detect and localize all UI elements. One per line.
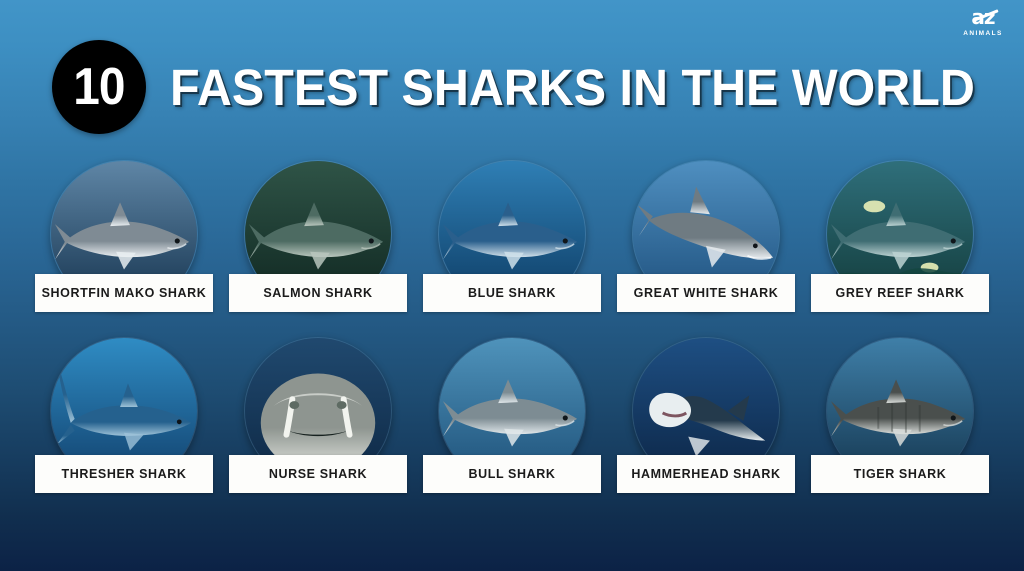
header-title-row: 10 FASTEST SHARKS IN THE WORLD [52,40,984,134]
shark-name-label: TIGER SHARK [811,455,989,493]
shark-card[interactable]: SALMON SHARK [228,160,408,312]
shark-name-label: GREY REEF SHARK [811,274,989,312]
az-logo-subtitle: ANIMALS [960,30,1006,37]
shark-grid: SHORTFIN MAKO SHARK SALMON SHARK [0,160,1024,518]
shark-name-text: GREAT WHITE SHARK [634,286,779,300]
shark-name-text: NURSE SHARK [269,467,367,481]
shark-card[interactable]: NURSE SHARK [228,337,408,493]
shark-name-text: TIGER SHARK [854,467,947,481]
shark-name-text: SHORTFIN MAKO SHARK [42,286,207,300]
az-logo-mark: az [971,8,994,26]
shark-card[interactable]: BULL SHARK [422,337,602,493]
shark-name-label: BULL SHARK [423,455,601,493]
shark-card[interactable]: GREAT WHITE SHARK [616,160,796,312]
shark-name-text: GREY REEF SHARK [836,286,965,300]
shark-card[interactable]: TIGER SHARK [810,337,990,493]
shark-name-label: SALMON SHARK [229,274,407,312]
shark-card[interactable]: GREY REEF SHARK [810,160,990,312]
shark-card[interactable]: THRESHER SHARK [34,337,214,493]
shark-name-label: BLUE SHARK [423,274,601,312]
az-animals-logo: az ANIMALS [960,8,1006,37]
shark-name-label: HAMMERHEAD SHARK [617,455,795,493]
rank-count-badge: 10 [52,40,146,134]
shark-card[interactable]: SHORTFIN MAKO SHARK [34,160,214,312]
shark-name-text: SALMON SHARK [263,286,372,300]
az-logo-slash [974,9,999,22]
shark-name-label: GREAT WHITE SHARK [617,274,795,312]
shark-name-text: BULL SHARK [468,467,555,481]
shark-card[interactable]: HAMMERHEAD SHARK [616,337,796,493]
badge-number: 10 [73,61,124,113]
shark-row-2: THRESHER SHARK NURSE SHARK [0,337,1024,493]
shark-name-text: HAMMERHEAD SHARK [631,467,780,481]
shark-name-label: THRESHER SHARK [35,455,213,493]
page-title: FASTEST SHARKS IN THE WORLD [170,58,975,117]
shark-name-text: THRESHER SHARK [61,467,186,481]
shark-name-text: BLUE SHARK [468,286,556,300]
shark-name-label: NURSE SHARK [229,455,407,493]
shark-name-label: SHORTFIN MAKO SHARK [35,274,213,312]
shark-card[interactable]: BLUE SHARK [422,160,602,312]
shark-row-1: SHORTFIN MAKO SHARK SALMON SHARK [0,160,1024,312]
